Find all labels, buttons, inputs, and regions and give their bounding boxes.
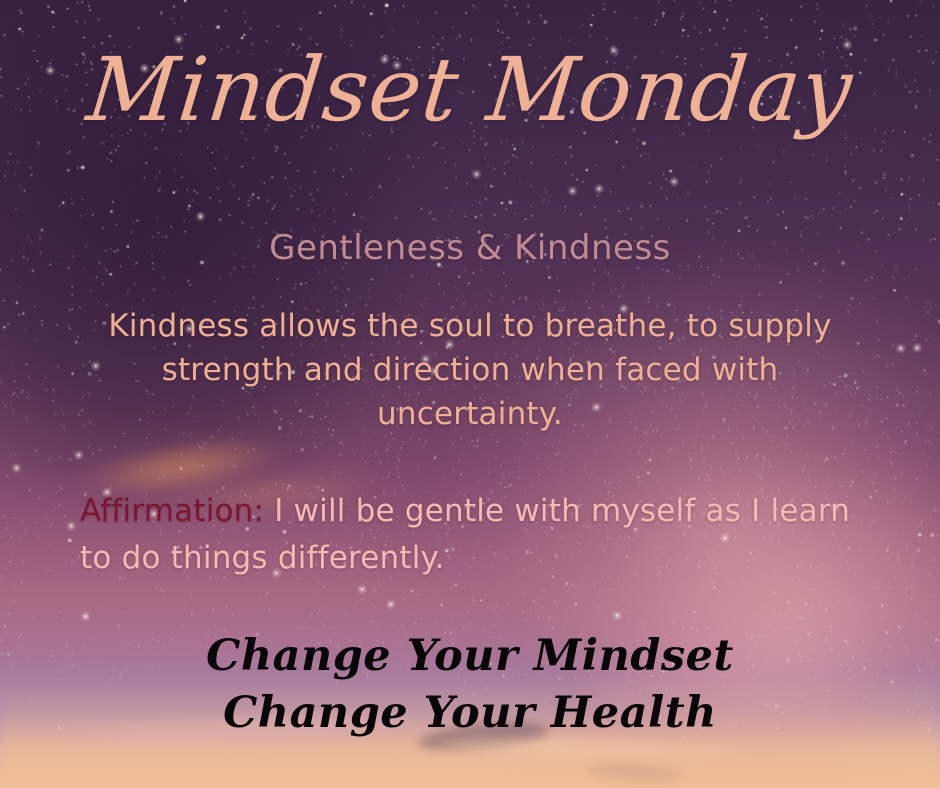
poster-subtitle: Gentleness & Kindness	[0, 228, 940, 268]
mindset-monday-poster: Mindset Monday Gentleness & Kindness Kin…	[0, 0, 940, 788]
poster-title: Mindset Monday	[0, 44, 940, 136]
affirmation-label: Affirmation:	[80, 493, 264, 529]
tagline-line-2: Change Your Health	[0, 685, 940, 742]
tagline-line-1: Change Your Mindset	[0, 628, 940, 685]
poster-body-quote: Kindness allows the soul to breathe, to …	[92, 304, 848, 436]
poster-content: Mindset Monday Gentleness & Kindness Kin…	[0, 0, 940, 788]
affirmation-block: Affirmation: I will be gentle with mysel…	[80, 488, 866, 582]
poster-tagline: Change Your Mindset Change Your Health	[0, 628, 940, 742]
